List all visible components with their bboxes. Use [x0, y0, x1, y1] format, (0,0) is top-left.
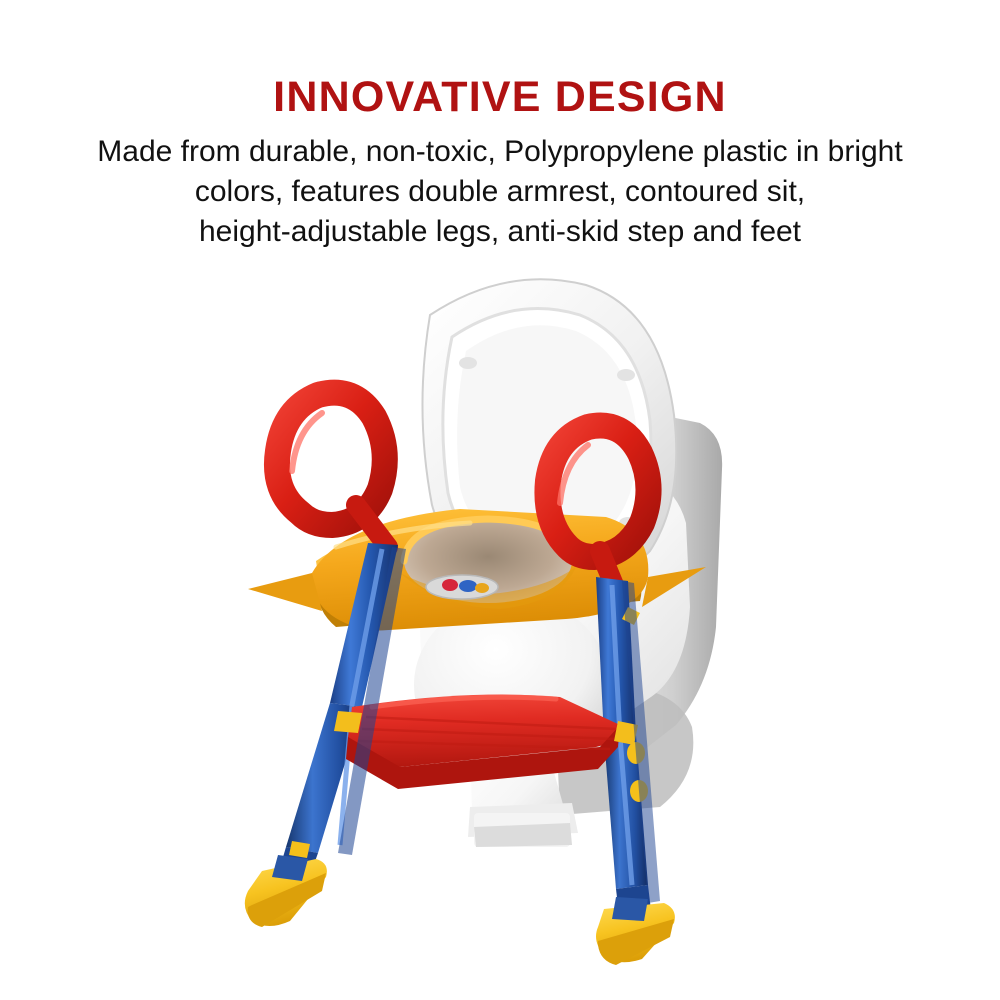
seat-badge	[426, 575, 498, 599]
foot-right-clip	[612, 897, 648, 921]
foot-left-clip	[272, 855, 308, 881]
product-illustration	[0, 255, 1000, 965]
description-line-3: height-adjustable legs, anti-skid step a…	[50, 212, 950, 252]
product-image	[0, 255, 1000, 965]
product-description: Made from durable, non-toxic, Polypropyl…	[50, 132, 950, 252]
lid-bumper-1	[459, 357, 477, 369]
seat-wing-left	[248, 573, 322, 611]
armrest-left[interactable]	[277, 393, 388, 547]
lid-bumper-2	[617, 369, 635, 381]
product-feature-page: INNOVATIVE DESIGN Made from durable, non…	[0, 0, 1000, 1000]
adjust-pin-left[interactable]	[289, 841, 310, 858]
foot-right	[596, 897, 675, 965]
description-line-2: colors, features double armrest, contour…	[50, 172, 950, 212]
page-title: INNOVATIVE DESIGN	[0, 75, 1000, 120]
description-line-1: Made from durable, non-toxic, Polypropyl…	[50, 132, 950, 172]
step-tab-left	[334, 711, 362, 733]
toilet-base-shadow	[474, 823, 572, 847]
foot-left	[245, 855, 327, 927]
